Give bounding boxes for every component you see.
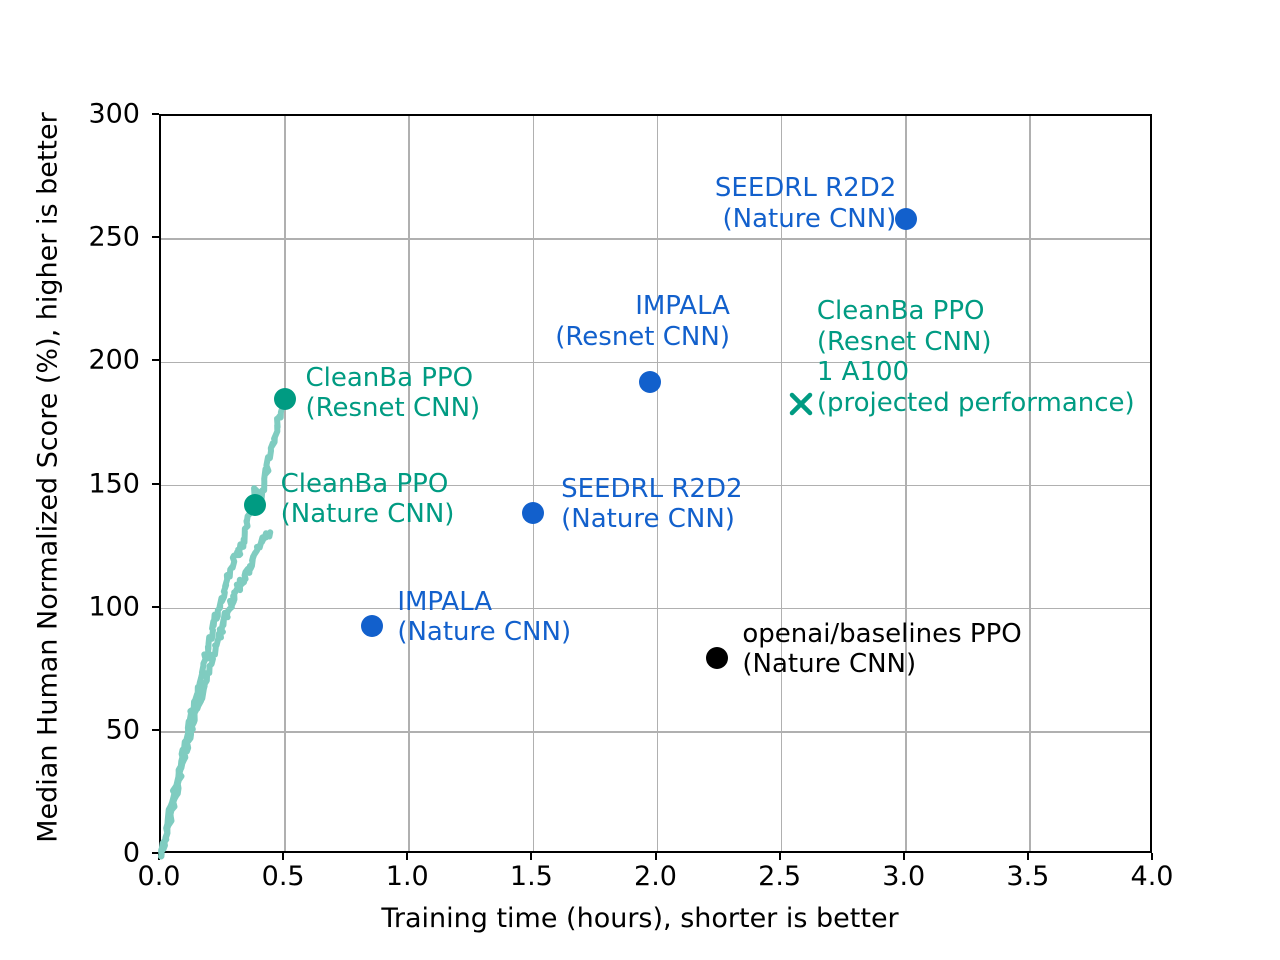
data-point-impala-nature-cnn (361, 615, 383, 637)
annotation-openai-baselines-ppo-nature-cnn: openai/baselines PPO (Nature CNN) (742, 619, 1021, 680)
x-axis-label: Training time (hours), shorter is better (0, 903, 1280, 934)
data-point-seedrl-r2d2-nature-cnn (895, 208, 917, 230)
annotation-seedrl-r2d2-nature-cnn: SEEDRL R2D2 (Nature CNN) (715, 173, 896, 234)
y-tick-label: 100 (0, 591, 152, 622)
chart-figure: 0.00.51.01.52.02.53.03.54.0 050100150200… (0, 0, 1280, 960)
y-tick-mark (152, 359, 159, 361)
x-tick-label: 4.0 (1131, 861, 1174, 892)
y-tick-label: 300 (0, 99, 152, 130)
x-tick-label: 3.5 (1006, 861, 1049, 892)
y-tick-mark (152, 852, 159, 854)
data-point-cleanba-ppo-nature-cnn (244, 494, 266, 516)
data-point-seedrl-r2d2-nature-cnn-2 (522, 502, 544, 524)
y-tick-mark (152, 236, 159, 238)
data-point-impala-resnet-cnn (639, 371, 661, 393)
x-tick-label: 1.0 (386, 861, 429, 892)
annotation-cleanba-ppo-resnet-cnn: CleanBa PPO (Resnet CNN) (305, 363, 480, 424)
x-tick-label: 2.0 (634, 861, 677, 892)
x-tick-label: 2.5 (758, 861, 801, 892)
y-tick-mark (152, 113, 159, 115)
annotation-impala-resnet-cnn: IMPALA (Resnet CNN) (555, 291, 730, 352)
y-tick-mark (152, 483, 159, 485)
y-tick-label: 0 (0, 838, 152, 869)
y-tick-label: 150 (0, 468, 152, 499)
y-tick-mark (152, 729, 159, 731)
annotation-impala-nature-cnn: IMPALA (Nature CNN) (397, 587, 571, 648)
x-tick-label: 3.0 (882, 861, 925, 892)
y-tick-label: 200 (0, 345, 152, 376)
y-tick-label: 50 (0, 714, 152, 745)
y-tick-label: 250 (0, 222, 152, 253)
training-curve-line (161, 532, 270, 856)
y-axis-label: Median Human Normalized Score (%), highe… (33, 108, 64, 848)
y-tick-mark (152, 606, 159, 608)
annotation-cleanba-ppo-nature-cnn: CleanBa PPO (Nature CNN) (281, 469, 455, 530)
data-point-cleanba-ppo-resnet-cnn (274, 388, 296, 410)
annotation-cleanba-ppo-resnet-cnn-projected: CleanBa PPO (Resnet CNN) 1 A100 (project… (817, 296, 1135, 418)
data-point-cleanba-ppo-resnet-cnn-projected (788, 391, 814, 417)
x-tick-label: 1.5 (510, 861, 553, 892)
annotation-seedrl-r2d2-nature-cnn-2: SEEDRL R2D2 (Nature CNN) (561, 474, 742, 535)
x-marker-icon (788, 391, 814, 417)
data-point-openai-baselines-ppo-nature-cnn (706, 647, 728, 669)
x-tick-label: 0.5 (262, 861, 305, 892)
